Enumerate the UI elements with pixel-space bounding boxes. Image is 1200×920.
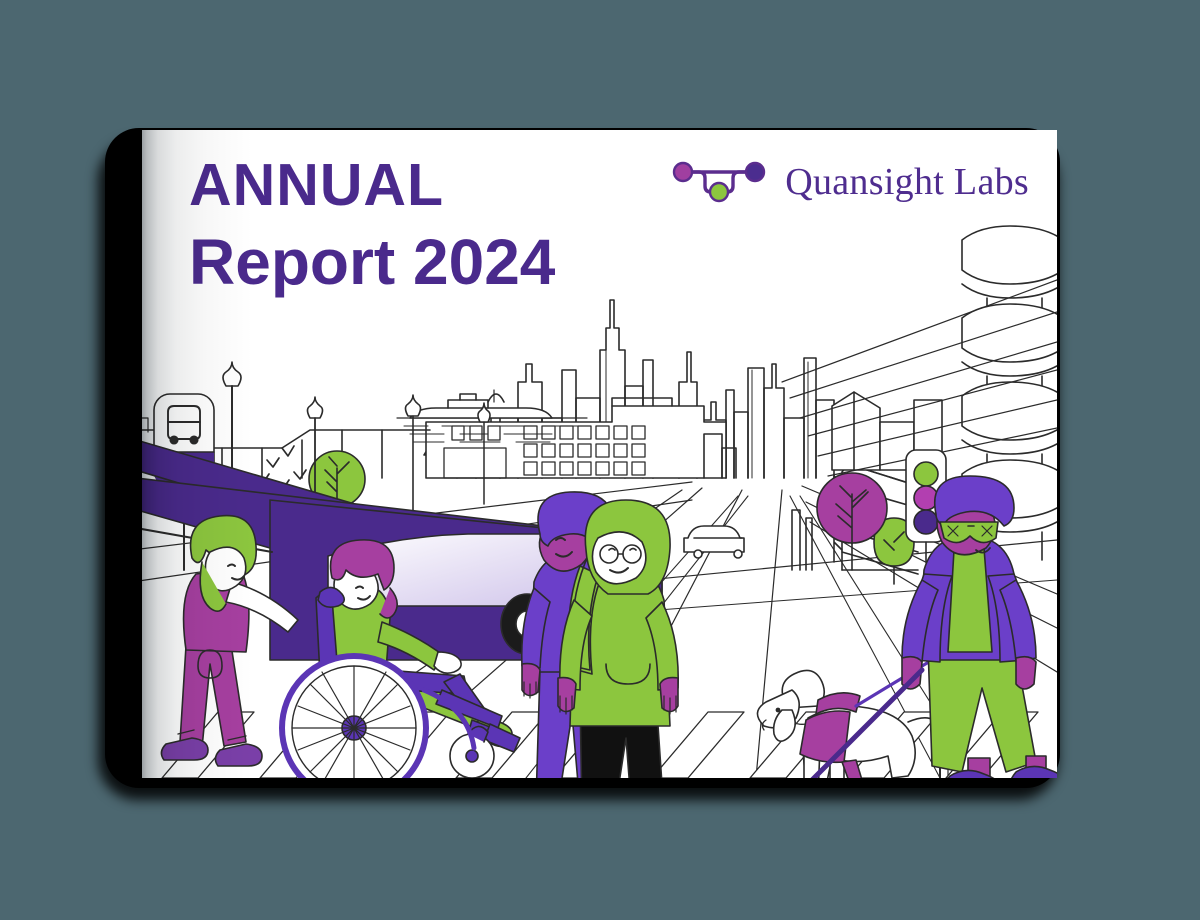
title-line-2: Report 2024 [189, 228, 555, 297]
report-cover-page: ANNUAL Report 2024 Quansight Labs [142, 130, 1057, 778]
street-lamp-3 [406, 395, 421, 516]
screenshot-stage: ANNUAL Report 2024 Quansight Labs [0, 0, 1200, 920]
distant-car [684, 526, 744, 558]
cover-inner: ANNUAL Report 2024 Quansight Labs [142, 130, 1057, 778]
quansight-labs-logo-mark [669, 156, 769, 208]
logo-wordmark: Quansight Labs [785, 160, 1029, 204]
page-title: ANNUAL Report 2024 [189, 154, 555, 297]
quansight-labs-logo: Quansight Labs [669, 156, 1029, 208]
title-line-1: ANNUAL [189, 154, 555, 218]
